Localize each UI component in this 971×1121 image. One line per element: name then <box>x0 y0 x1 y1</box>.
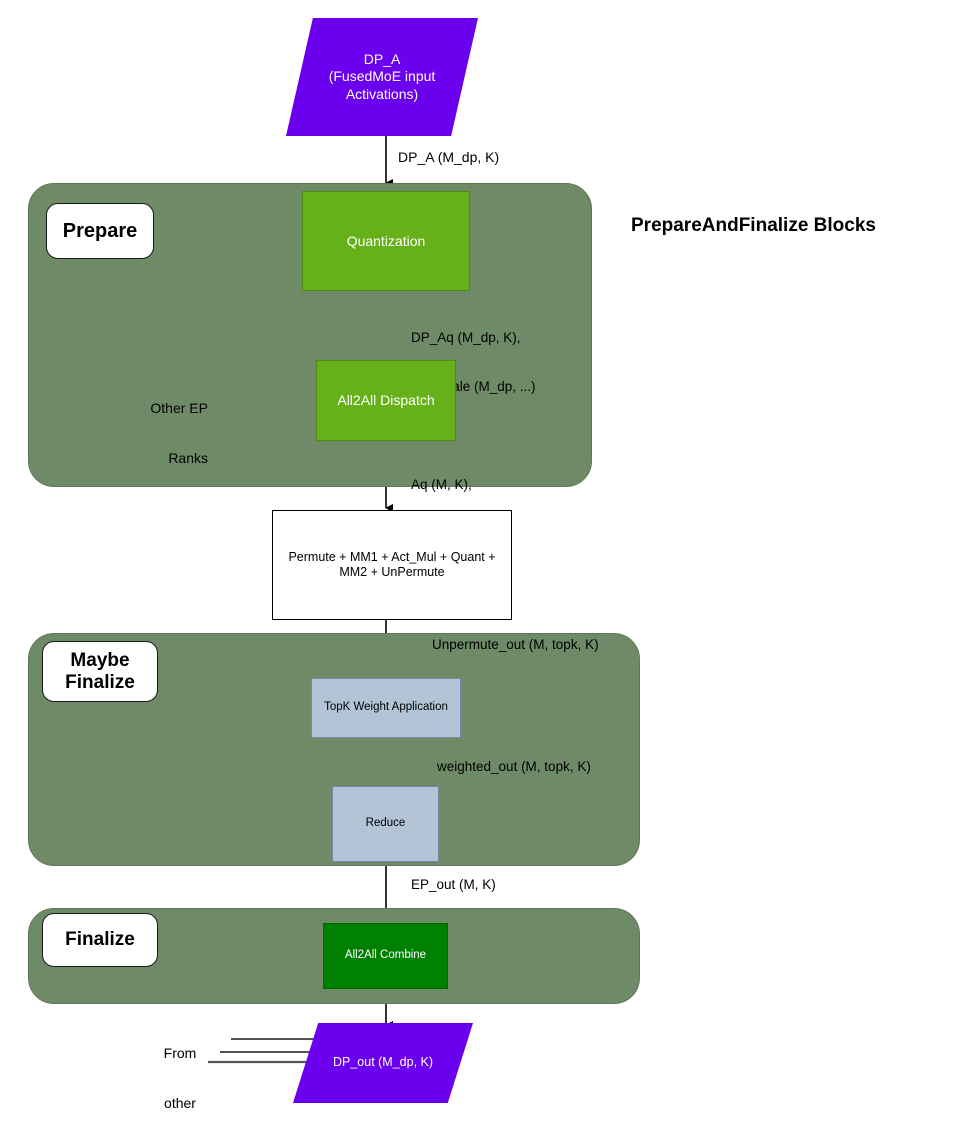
node-dp-a-input[interactable]: DP_A (FusedMoE input Activations) <box>286 18 478 136</box>
group-prepare-label: Prepare <box>46 203 154 259</box>
node-dp-out[interactable]: DP_out (M_dp, K) <box>293 1023 473 1103</box>
node-all2all-dispatch-label: All2All Dispatch <box>337 392 434 409</box>
edge-label-unpermute-out: Unpermute_out (M, topk, K) <box>432 637 599 653</box>
group-maybe-finalize-label-line2: Finalize <box>65 672 135 693</box>
node-reduce-label: Reduce <box>366 817 406 831</box>
annotation-from-other-ep-ranks: From other EP Ranks <box>148 1011 212 1121</box>
annotation-from-other-ep-ranks-line2: other <box>148 1095 212 1112</box>
group-maybe-finalize-label-line1: Maybe <box>65 650 135 671</box>
node-dp-a-input-line1: DP_A <box>329 51 436 68</box>
edge-label-dp-a: DP_A (M_dp, K) <box>398 149 499 166</box>
node-all2all-combine-label: All2All Combine <box>345 949 426 963</box>
annotation-other-ep-ranks-line1: Other EP <box>118 400 208 417</box>
node-topk-weight-application[interactable]: TopK Weight Application <box>311 678 461 738</box>
annotation-other-ep-ranks-line2: Ranks <box>118 450 208 467</box>
group-prepare-label-text: Prepare <box>63 220 138 242</box>
node-dp-a-input-line2: (FusedMoE input <box>329 68 436 85</box>
node-reduce[interactable]: Reduce <box>332 786 439 862</box>
group-maybe-finalize-label: Maybe Finalize <box>42 641 158 702</box>
group-finalize-label: Finalize <box>42 913 158 967</box>
node-quantization[interactable]: Quantization <box>302 191 470 291</box>
annotation-other-ep-ranks: Other EP Ranks <box>118 366 208 500</box>
edge-label-ep-out: EP_out (M, K) <box>411 877 496 893</box>
node-expert-compute-line1: Permute + MM1 + Act_Mul + Quant + <box>288 550 495 565</box>
edge-label-weighted-out: weighted_out (M, topk, K) <box>437 759 591 775</box>
node-all2all-combine[interactable]: All2All Combine <box>323 923 448 989</box>
node-dp-out-label: DP_out (M_dp, K) <box>333 1055 433 1070</box>
group-finalize-label-text: Finalize <box>65 929 135 950</box>
annotation-from-other-ep-ranks-line1: From <box>148 1045 212 1062</box>
edge-label-aq-line1: Aq (M, K), <box>396 477 487 493</box>
node-dp-a-input-line3: Activations) <box>329 86 436 103</box>
node-expert-compute-line2: MM2 + UnPermute <box>288 565 495 580</box>
node-all2all-dispatch[interactable]: All2All Dispatch <box>316 360 456 441</box>
diagram-title: PrepareAndFinalize Blocks <box>631 215 876 237</box>
edge-label-dp-aq-line1: DP_Aq (M_dp, K), <box>396 330 536 346</box>
node-topk-weight-application-label: TopK Weight Application <box>324 701 448 715</box>
node-expert-compute[interactable]: Permute + MM1 + Act_Mul + Quant + MM2 + … <box>272 510 512 620</box>
diagram-canvas: PrepareAndFinalize Blocks DP_A (FusedMoE… <box>0 0 971 1121</box>
node-quantization-label: Quantization <box>347 233 426 250</box>
